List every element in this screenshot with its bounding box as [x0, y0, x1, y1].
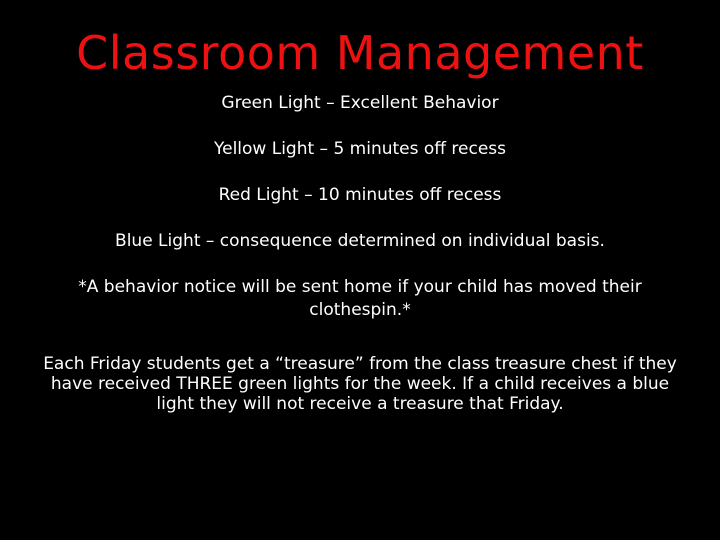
- page-title: Classroom Management: [0, 27, 720, 79]
- treasure-chest-paragraph: Each Friday students get a “treasure” fr…: [40, 354, 680, 414]
- spacer: [30, 114, 690, 138]
- spacer: [30, 160, 690, 184]
- rule-yellow-light: Yellow Light – 5 minutes off recess: [30, 138, 690, 160]
- spacer: [30, 206, 690, 230]
- spacer: [30, 322, 690, 354]
- rule-green-light: Green Light – Excellent Behavior: [30, 92, 690, 114]
- behavior-notice-note: *A behavior notice will be sent home if …: [60, 276, 660, 322]
- slide-canvas: Classroom Management Green Light – Excel…: [0, 0, 720, 540]
- rule-blue-light: Blue Light – consequence determined on i…: [30, 230, 690, 252]
- slide-body: Green Light – Excellent Behavior Yellow …: [30, 92, 690, 414]
- spacer: [30, 252, 690, 276]
- rule-red-light: Red Light – 10 minutes off recess: [30, 184, 690, 206]
